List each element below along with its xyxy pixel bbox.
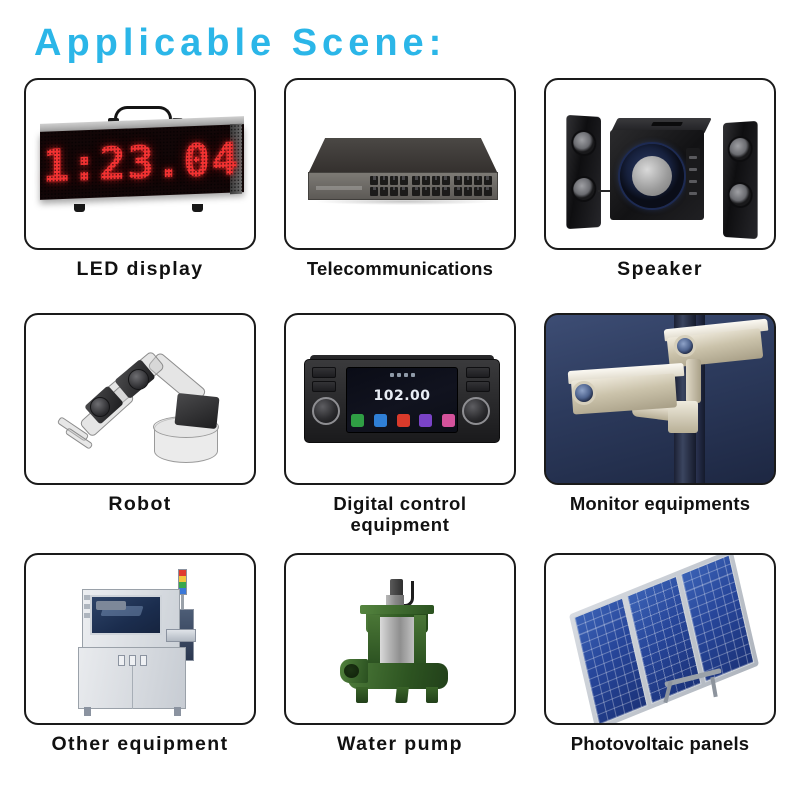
control-slot bbox=[689, 192, 697, 195]
switch-port bbox=[474, 187, 482, 196]
satellite-driver bbox=[573, 178, 594, 200]
machine-control-buttons bbox=[118, 655, 147, 666]
scene-card-digital-control-equipment: 102.00 bbox=[284, 313, 516, 485]
rear-camera-lens-icon bbox=[674, 335, 696, 357]
led-display-illustration: 1:23.04 bbox=[26, 80, 254, 248]
robot-joint-upper bbox=[128, 369, 149, 390]
subwoofer-cone bbox=[632, 156, 672, 196]
subwoofer-port-slot bbox=[651, 122, 683, 126]
machine-leg-right bbox=[174, 707, 181, 716]
network-switch-illustration bbox=[286, 80, 514, 248]
led-foot-right bbox=[192, 204, 203, 212]
switch-port-bank bbox=[370, 176, 408, 196]
scene-card-monitor-equipments bbox=[544, 313, 776, 485]
scene-cell-other-equipment: Other equipment bbox=[10, 553, 270, 788]
satellite-speaker-right bbox=[723, 121, 758, 239]
status-icon bbox=[397, 373, 401, 377]
switch-port bbox=[380, 187, 388, 196]
head-unit-button bbox=[466, 367, 490, 378]
pump-stainless-barrel bbox=[378, 617, 416, 667]
water-pump-illustration bbox=[286, 555, 514, 723]
switch-port bbox=[390, 176, 398, 185]
switch-shadow bbox=[316, 198, 492, 205]
status-icon bbox=[390, 373, 394, 377]
scene-caption-led-display: LED display bbox=[13, 259, 267, 281]
pump-flange-top bbox=[360, 605, 434, 614]
scene-caption-photovoltaic-panels: Photovoltaic panels bbox=[533, 734, 787, 755]
caption-line-1: Digital control bbox=[273, 494, 527, 515]
screen-status-bar bbox=[347, 371, 457, 378]
switch-port bbox=[454, 187, 462, 196]
scene-card-telecommunications bbox=[284, 78, 516, 250]
industrial-machine-illustration bbox=[26, 555, 254, 723]
page-title: Applicable Scene: bbox=[34, 22, 446, 65]
switch-port bbox=[412, 176, 420, 185]
switch-chassis-top bbox=[308, 138, 498, 174]
machine-leg-left bbox=[84, 707, 91, 716]
switch-port bbox=[370, 187, 378, 196]
head-unit-knob-right bbox=[462, 397, 490, 425]
robot-joint-lower bbox=[90, 397, 110, 417]
switch-port bbox=[370, 176, 378, 185]
machine-gantry-head bbox=[96, 601, 126, 610]
app-icon bbox=[374, 414, 387, 427]
scene-card-other-equipment bbox=[24, 553, 256, 725]
switch-port bbox=[432, 187, 440, 196]
satellite-driver bbox=[730, 138, 751, 161]
pump-leg bbox=[426, 687, 438, 703]
machine-side-buttons bbox=[84, 595, 90, 633]
machine-indicator bbox=[84, 604, 90, 609]
pump-side-rail-right bbox=[414, 615, 426, 667]
scene-cell-telecommunications: Telecommunications bbox=[270, 78, 530, 313]
cctv-camera-illustration bbox=[546, 315, 774, 483]
scene-cell-photovoltaic-panels: Photovoltaic panels bbox=[530, 553, 790, 788]
switch-port bbox=[474, 176, 482, 185]
led-readout: 1:23.04 bbox=[46, 128, 236, 195]
scene-cell-monitor-equipments: Monitor equipments bbox=[530, 313, 790, 553]
machine-button bbox=[140, 655, 147, 666]
switch-port bbox=[442, 187, 450, 196]
scene-caption-speaker: Speaker bbox=[533, 259, 787, 281]
machine-button bbox=[118, 655, 125, 666]
robot-arm-illustration bbox=[26, 315, 254, 483]
scene-grid: 1:23.04 LED display bbox=[0, 78, 800, 788]
pump-discharge-outlet bbox=[340, 659, 368, 683]
head-unit-button bbox=[466, 381, 490, 392]
front-camera-lens-icon bbox=[572, 381, 596, 405]
screen-radio-frequency: 102.00 bbox=[347, 388, 457, 404]
scene-cell-water-pump: Water pump bbox=[270, 553, 530, 788]
scene-card-photovoltaic-panels bbox=[544, 553, 776, 725]
switch-port bbox=[412, 187, 420, 196]
pump-side-rail-left bbox=[368, 615, 380, 667]
switch-port bbox=[484, 187, 492, 196]
switch-port bbox=[380, 176, 388, 185]
switch-port bbox=[484, 176, 492, 185]
head-unit-screen: 102.00 bbox=[346, 367, 458, 433]
pump-leg bbox=[395, 687, 409, 703]
caption-line-2: equipment bbox=[273, 515, 527, 536]
applicable-scene-infographic: Applicable Scene: 1:23.04 LED display bbox=[0, 0, 800, 800]
satellite-driver bbox=[730, 184, 751, 206]
app-icon bbox=[419, 414, 432, 427]
status-icon bbox=[411, 373, 415, 377]
satellite-driver bbox=[573, 132, 594, 155]
switch-port-bank bbox=[454, 176, 492, 196]
machine-feeder-drawer bbox=[166, 629, 196, 642]
scene-card-robot bbox=[24, 313, 256, 485]
switch-port bbox=[464, 187, 472, 196]
app-icon bbox=[397, 414, 410, 427]
screen-app-row bbox=[351, 414, 455, 427]
switch-port bbox=[400, 176, 408, 185]
pump-leg bbox=[356, 687, 368, 703]
scene-cell-led-display: 1:23.04 LED display bbox=[10, 78, 270, 313]
robot-wrist-servo bbox=[174, 393, 219, 429]
switch-port bbox=[442, 176, 450, 185]
status-icon bbox=[404, 373, 408, 377]
rear-camera-mount-neck bbox=[686, 359, 701, 403]
head-unit-knob-left bbox=[312, 397, 340, 425]
head-unit-button bbox=[312, 381, 336, 392]
scene-card-water-pump bbox=[284, 553, 516, 725]
control-slot bbox=[689, 168, 697, 171]
switch-port bbox=[422, 187, 430, 196]
scene-cell-speaker: Speaker bbox=[530, 78, 790, 313]
scene-card-speaker bbox=[544, 78, 776, 250]
switch-port bbox=[400, 187, 408, 196]
scene-caption-digital-control-equipment: Digital control equipment bbox=[273, 494, 527, 535]
satellite-speaker-left bbox=[566, 115, 601, 229]
switch-port bbox=[390, 187, 398, 196]
solar-panel-illustration bbox=[546, 555, 774, 723]
head-unit-button bbox=[312, 367, 336, 378]
machine-indicator bbox=[84, 595, 90, 600]
scene-caption-telecommunications: Telecommunications bbox=[273, 259, 527, 280]
switch-port bbox=[454, 176, 462, 185]
switch-port-array bbox=[370, 176, 492, 196]
app-icon bbox=[351, 414, 364, 427]
switch-port-bank bbox=[412, 176, 450, 196]
stack-light-blue bbox=[179, 588, 186, 594]
app-icon bbox=[442, 414, 455, 427]
scene-caption-robot: Robot bbox=[13, 494, 267, 516]
scene-cell-digital-control-equipment: 102.00 Digital control equi bbox=[270, 313, 530, 553]
switch-port bbox=[432, 176, 440, 185]
control-slot bbox=[689, 180, 697, 183]
led-foot-left bbox=[74, 204, 85, 212]
switch-port bbox=[464, 176, 472, 185]
scene-card-led-display: 1:23.04 bbox=[24, 78, 256, 250]
machine-indicator bbox=[84, 613, 90, 618]
speaker-system-illustration bbox=[546, 80, 774, 248]
scene-cell-robot: Robot bbox=[10, 313, 270, 553]
switch-port bbox=[422, 176, 430, 185]
scene-caption-water-pump: Water pump bbox=[273, 734, 527, 756]
subwoofer-control-panel bbox=[686, 148, 700, 200]
car-head-unit-illustration: 102.00 bbox=[286, 315, 514, 483]
machine-button bbox=[129, 655, 136, 666]
scene-caption-other-equipment: Other equipment bbox=[13, 734, 267, 756]
switch-brand-label bbox=[316, 186, 362, 190]
scene-caption-monitor-equipments: Monitor equipments bbox=[533, 494, 787, 515]
control-slot bbox=[689, 156, 697, 159]
